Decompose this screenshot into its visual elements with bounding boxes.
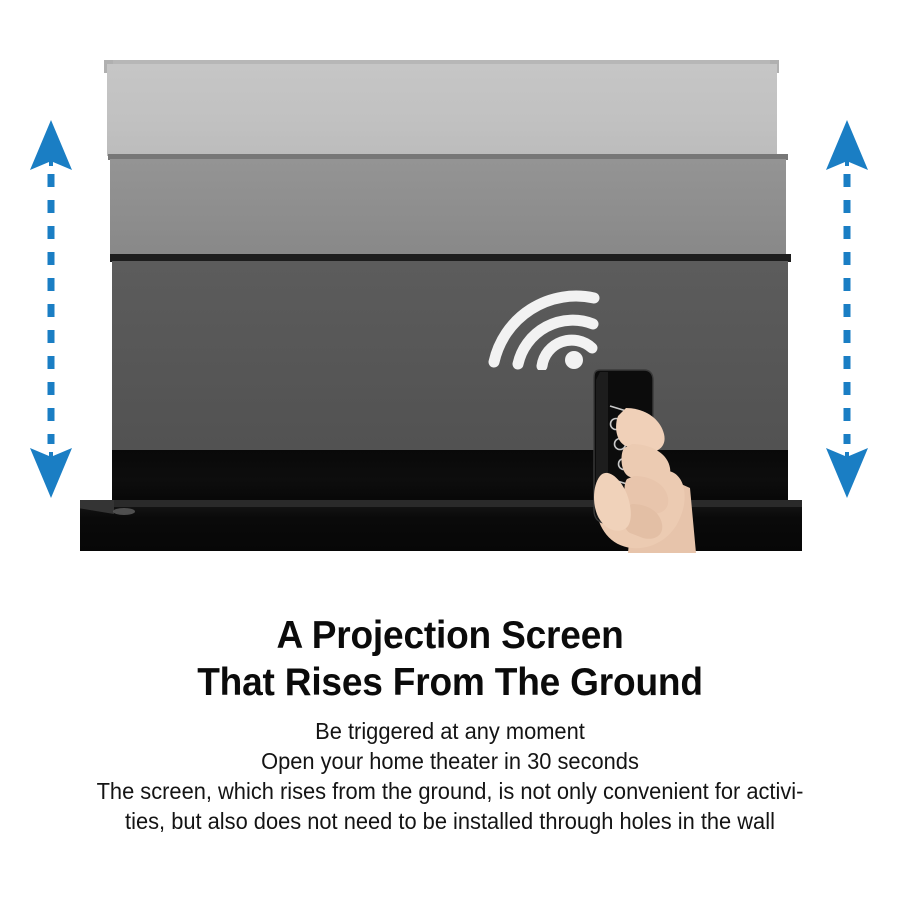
screen-panel-ghost-top: [107, 64, 777, 156]
body-line-2: Open your home theater in 30 seconds: [23, 746, 878, 776]
marketing-copy: A Projection Screen That Rises From The …: [0, 612, 900, 836]
motion-arrow-right: [824, 118, 870, 500]
headline-line-2: That Rises From The Ground: [23, 659, 878, 706]
screen-panel-ghost-mid: [110, 159, 786, 255]
product-illustration: [0, 0, 900, 580]
body-copy: Be triggered at any moment Open your hom…: [0, 716, 900, 836]
body-line-3: The screen, which rises from the ground,…: [23, 776, 878, 806]
body-line-1: Be triggered at any moment: [23, 716, 878, 746]
headline-line-1: A Projection Screen: [23, 612, 878, 659]
motion-arrow-left: [28, 118, 74, 500]
body-line-4: ties, but also does not need to be insta…: [23, 806, 878, 836]
wifi-signal-icon: [488, 288, 608, 370]
hand-holding-remote: [540, 368, 700, 553]
base-control-indicator: [113, 508, 135, 515]
product-banner: A Projection Screen That Rises From The …: [0, 0, 900, 900]
